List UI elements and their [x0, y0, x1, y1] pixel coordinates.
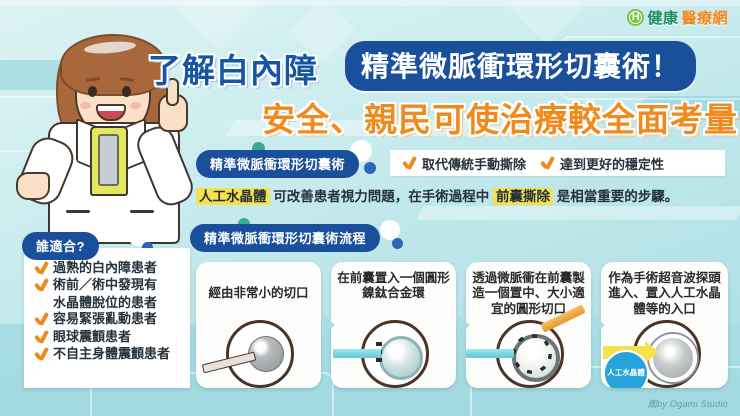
who-item-label: 眼球震顫患者 — [53, 329, 131, 345]
heart-h-icon: H — [627, 9, 644, 26]
who-item-label: 容易緊張亂動患者 — [53, 311, 157, 327]
logo-text-secondary: 醫療網 — [681, 7, 728, 28]
who-item-label-cont: 水晶體脫位的患者 — [53, 295, 190, 311]
feature-bullet-label: 取代傳統手動撕除 — [422, 154, 526, 173]
infographic-canvas: H 健康醫療網 了解白內障 精準微脈衝環形切囊術！ 安全、親民可使治療較全面考量 — [0, 0, 740, 416]
list-item: 過熟的白內障患者 — [34, 260, 190, 276]
flow-arrow-3 — [592, 314, 605, 336]
iol-insert-arrowhead — [645, 341, 659, 363]
title-line2: 安全、親民可使治療較全面考量 — [262, 93, 738, 141]
credit-text: 圖by Ogami Studio — [648, 397, 728, 410]
list-item: 術前／術中發現有 — [34, 277, 190, 293]
iol-badge-label: 人工水晶體 — [607, 369, 645, 378]
process-step-2-label: 在前囊置入一個圓形鎳鈦合金環 — [331, 271, 456, 302]
feature-bullet-0: 取代傳統手動撕除 — [402, 154, 526, 173]
instrument-probe — [333, 349, 381, 358]
highlight-term-capsulotomy: 前囊撕除 — [493, 188, 553, 205]
who-item-label: 過熟的白內障患者 — [53, 260, 157, 276]
logo-text-primary: 健康 — [647, 7, 678, 28]
highlight-term-iol: 人工水晶體 — [196, 188, 270, 205]
process-step-1-label: 經由非常小的切口 — [196, 286, 321, 301]
decor-dot-white — [380, 220, 400, 240]
lens-shape — [379, 336, 423, 380]
process-ribbon: 精準微脈衝環形切囊術流程 — [190, 224, 380, 252]
site-logo: H 健康醫療網 — [627, 7, 728, 28]
title-pill-text: 精準微脈衝環形切囊術！ — [361, 51, 680, 82]
feature-sentence: 人工水晶體 可改善患者視力問題，在手術過程中 前囊撕除 是相當重要的步驟。 — [196, 185, 678, 205]
feature-bullet-label: 達到更好的穩定性 — [560, 154, 664, 173]
who-item-label: 術前／術中發現有 — [53, 277, 157, 293]
who-item-label: 不自主身體震顫患者 — [53, 346, 170, 362]
check-icon — [540, 157, 555, 170]
decor-dot-blue — [392, 238, 403, 249]
check-icon — [34, 331, 49, 344]
list-item: 眼球震顫患者 — [34, 329, 190, 345]
logo-mark-letter: H — [632, 12, 640, 23]
process-step-4: 作為手術超音波探頭進入、置入人工水晶體等的入口 人工水晶體 — [601, 262, 728, 388]
check-icon — [34, 279, 49, 292]
bg-shape — [0, 0, 740, 6]
feature-ribbon: 精準微脈衝環形切囊術 — [196, 150, 359, 178]
list-item: 容易緊張亂動患者 — [34, 311, 190, 327]
process-step-3: 透過微脈衝在前囊製造一個置中、大小適宜的圓形切口 — [466, 262, 591, 388]
iol-badge: 人工水晶體 — [603, 350, 649, 388]
who-list: 過熟的白內障患者 術前／術中發現有 水晶體脫位的患者 容易緊張亂動患者 眼球震顫… — [34, 260, 190, 363]
title-line1-pill: 精準微脈衝環形切囊術！ — [345, 41, 696, 91]
instrument-probe — [466, 349, 514, 358]
who-ribbon: 誰適合? — [22, 232, 99, 260]
bg-shape — [416, 206, 740, 220]
process-step-1: 經由非常小的切口 — [196, 262, 321, 388]
list-item: 不自主身體震顫患者 — [34, 346, 190, 362]
capsulotomy-segments — [512, 334, 552, 374]
check-icon — [34, 348, 49, 361]
check-icon — [34, 262, 49, 275]
sentence-mid: 可改善患者視力問題，在手術過程中 — [273, 189, 489, 204]
process-step-2: 在前囊置入一個圓形鎳鈦合金環 — [331, 262, 456, 388]
sentence-end: 是相當重要的步驟。 — [557, 189, 679, 204]
title-line1-plain: 了解白內障 — [148, 44, 318, 92]
feature-bullet-band: 取代傳統手動撕除 達到更好的穩定性 — [390, 150, 725, 176]
feature-bullet-1: 達到更好的穩定性 — [540, 154, 664, 173]
process-step-4-label: 作為手術超音波探頭進入、置入人工水晶體等的入口 — [601, 271, 728, 317]
flow-arrow-1 — [322, 314, 335, 336]
flow-arrow-2 — [457, 314, 470, 336]
check-icon — [402, 157, 417, 170]
decor-dot-blue — [364, 162, 376, 174]
check-icon — [34, 313, 49, 326]
